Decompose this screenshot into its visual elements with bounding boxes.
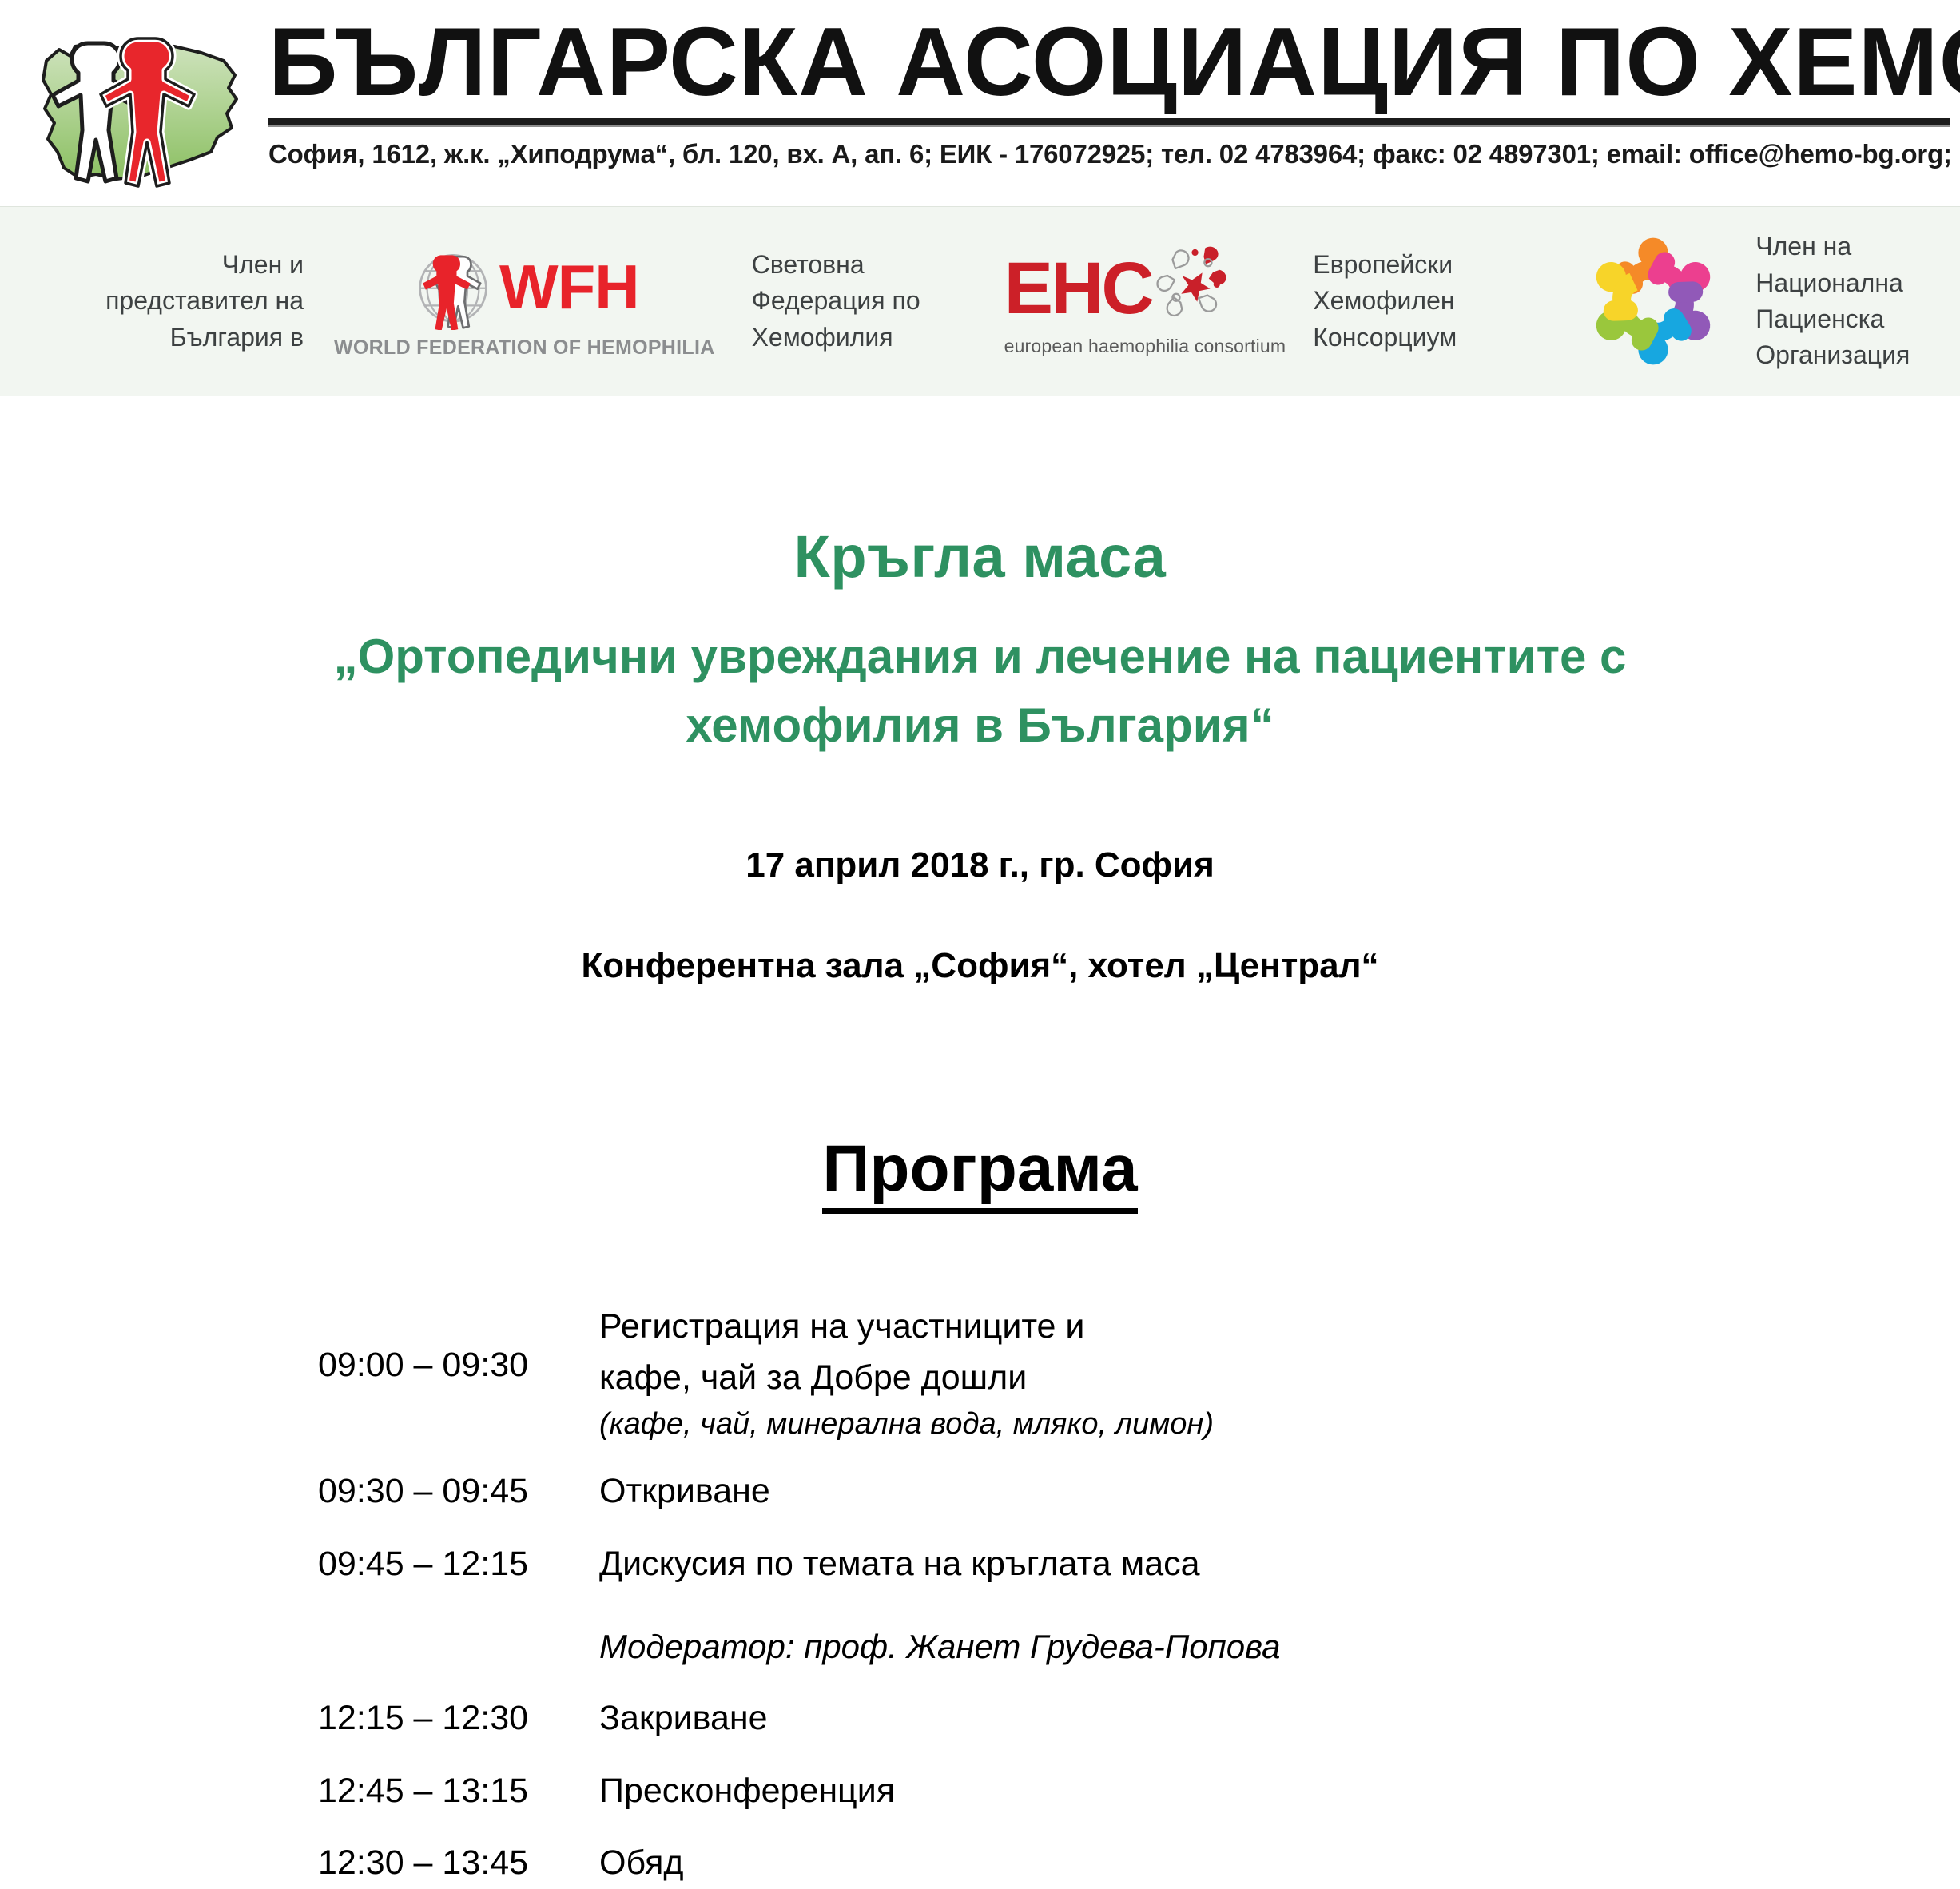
wfh-membership-group: Член и представител на България в WFH WO… [72,207,984,396]
ehc-membership-group: EHC [1004,207,1553,396]
bulgaria-map-two-figures-logo [22,11,262,197]
wfh-caption-line-2: представител на [72,283,304,319]
partner-memberships-band: Член и представител на България в WFH WO… [0,206,1960,396]
wfh-globe-icon [410,244,496,330]
programme-schedule: 09:00 – 09:30 Регистрация на участниците… [0,1301,1960,1889]
event-title-line-1: „Ортопедични увреждания и лечение на пац… [229,622,1731,690]
document-body: Кръгла маса „Ортопедични увреждания и ле… [0,396,1960,1889]
npo-caption: Член на Национална Пациенска Организация [1755,229,1960,374]
header-divider [268,118,1950,127]
wfh-description-line-1: Световна [752,247,984,283]
schedule-moderator: Модератор: проф. Жанет Грудева-Попова [599,1621,1960,1672]
schedule-time: 12:45 – 13:15 [318,1765,599,1817]
schedule-line: Обяд [599,1837,1960,1889]
schedule-row: 09:30 – 09:45 Откриване [318,1465,1960,1517]
schedule-description: Откриване [599,1465,1960,1517]
wfh-caption-line-1: Член и [72,247,304,283]
schedule-note: (кафе, чай, минерална вода, мляко, лимон… [599,1404,1960,1445]
programme-heading: Програма [0,1131,1960,1207]
schedule-time: 09:30 – 09:45 [318,1465,599,1517]
schedule-line: Регистрация на участниците и [599,1301,1960,1353]
schedule-description: Регистрация на участниците и кафе, чай з… [599,1301,1960,1445]
ehc-description-line-2: Хемофилен [1313,283,1552,319]
schedule-line: Закриване [599,1692,1960,1744]
npo-membership-group: Член на Национална Пациенска Организация [1575,207,1960,396]
wfh-description-line-3: Хемофилия [752,320,984,356]
organization-name: БЪЛГАРСКА АСОЦИАЦИЯ ПО ХЕМОФИЛИЯ [268,5,1925,110]
wfh-subtitle: WORLD FEDERATION OF HEMOPHILIA [334,336,715,360]
schedule-time: 12:15 – 12:30 [318,1692,599,1744]
organization-contact-line: София, 1612, ж.к. „Хиподрума“, бл. 120, … [268,140,1950,169]
wfh-logo: WFH WORLD FEDERATION OF HEMOPHILIA [334,244,715,360]
schedule-line: Пресконференция [599,1765,1960,1817]
document-page: { "letterhead": { "logo_name": "bulgaria… [0,0,1960,1783]
letterhead: БЪЛГАРСКА АСОЦИАЦИЯ ПО ХЕМОФИЛИЯ София, … [0,0,1960,206]
ehc-acronym: EHC [1004,252,1152,325]
event-venue: Конферентна зала „София“, хотел „Централ… [0,946,1960,986]
ehc-description-line-3: Консорциум [1313,320,1552,356]
schedule-row: 09:00 – 09:30 Регистрация на участниците… [318,1301,1960,1445]
schedule-row: 09:45 – 12:15 Дискусия по темата на кръг… [318,1538,1960,1672]
schedule-description: Дискусия по темата на кръглата маса Моде… [599,1538,1960,1672]
npo-caption-line-3: Пациенска [1755,301,1960,337]
ehc-subtitle: european haemophilia consortium [1004,336,1286,357]
schedule-time: 12:30 – 13:45 [318,1837,599,1889]
schedule-description: Обяд [599,1837,1960,1889]
national-patient-organization-circle-icon [1575,223,1731,380]
ehc-description-line-1: Европейски [1313,247,1552,283]
ehc-description: Европейски Хемофилен Консорциум [1313,247,1552,356]
schedule-time: 09:45 – 12:15 [318,1538,599,1590]
npo-caption-line-1: Член на [1755,229,1960,264]
npo-caption-line-4: Организация [1755,337,1960,373]
schedule-line: кафе, чай за Добре дошли [599,1352,1960,1404]
programme-heading-text: Програма [822,1132,1137,1214]
letterhead-text: БЪЛГАРСКА АСОЦИАЦИЯ ПО ХЕМОФИЛИЯ София, … [268,5,1950,169]
event-date: 17 април 2018 г., гр. София [0,845,1960,885]
wfh-caption-line-3: България в [72,320,304,356]
schedule-time: 09:00 – 09:30 [318,1301,599,1391]
wfh-description-line-2: Федерация по [752,283,984,319]
event-kind-title: Кръгла маса [0,524,1960,589]
npo-logo [1575,223,1731,380]
schedule-row: 12:45 – 13:15 Пресконференция [318,1765,1960,1817]
wfh-acronym: WFH [499,256,639,318]
schedule-line: Дискусия по темата на кръглата маса [599,1538,1960,1590]
schedule-description: Закриване [599,1692,1960,1744]
event-title: „Ортопедични увреждания и лечение на пац… [229,622,1731,758]
event-title-line-2: хемофилия в България“ [229,691,1731,759]
wfh-description: Световна Федерация по Хемофилия [752,247,984,356]
schedule-row: 12:30 – 13:45 Обяд [318,1837,1960,1889]
ehc-logo: EHC [1004,246,1286,357]
schedule-description: Пресконференция [599,1765,1960,1817]
ehc-figures-circle-icon [1144,237,1238,331]
schedule-row: 12:15 – 12:30 Закриване [318,1692,1960,1744]
schedule-line: Откриване [599,1465,1960,1517]
wfh-membership-caption: Член и представител на България в [72,247,304,356]
npo-caption-line-2: Национална [1755,265,1960,301]
